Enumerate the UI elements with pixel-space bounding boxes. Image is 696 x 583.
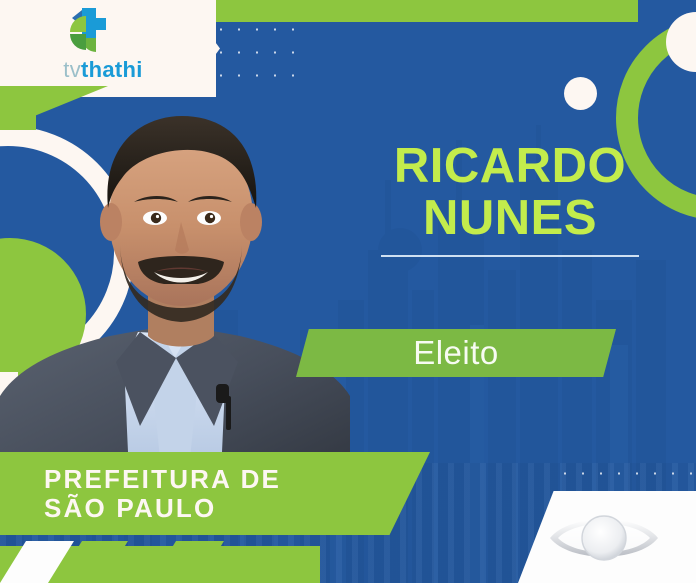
tvthathi-t-mark-icon [62,8,110,60]
status-badge: Eleito [296,329,616,377]
candidate-portrait [0,96,380,496]
candidate-name-block: RICARDO NUNES [340,140,680,257]
wordmark-thathi: thathi [81,57,143,82]
office-line-1: PREFEITURA DE [44,465,384,494]
broadcast-graphic-card: tvthathi [0,0,696,583]
decor-white-circle-small [564,77,597,110]
candidate-last-name: NUNES [340,192,680,244]
dot-grid-top [212,18,300,88]
name-underline [381,255,639,257]
wordmark-tv: tv [63,57,81,82]
tvthathi-wordmark: tvthathi [38,57,168,83]
band-eye-icon [546,507,662,569]
candidate-first-name: RICARDO [340,140,680,192]
